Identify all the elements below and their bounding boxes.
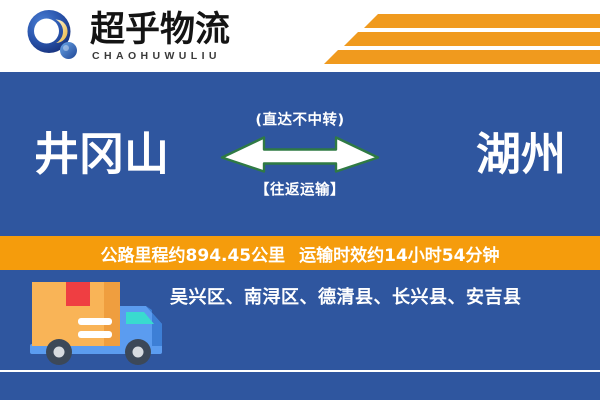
bottom-divider (0, 370, 600, 372)
route-arrow-group: (直达不中转) 【往返运输】 (210, 109, 390, 200)
duration-text: 运输时效约14小时54分钟 (299, 241, 499, 266)
brand-wordmark: 超乎物流 CHAOHUWULIU (90, 10, 230, 62)
orange-speed-stripes-icon (280, 6, 600, 64)
circle-swoosh-logo-icon (24, 7, 82, 65)
info-bar: 公路里程约894.45公里 运输时效约14小时54分钟 (0, 236, 600, 270)
brand-name-en: CHAOHUWULIU (90, 50, 230, 62)
arrow-caption-direct: (直达不中转) (255, 109, 344, 130)
origin-city: 井冈山 (34, 132, 169, 177)
brand-logo[interactable]: 超乎物流 CHAOHUWULIU (24, 7, 230, 65)
destination-city: 湖州 (476, 132, 566, 177)
coverage-areas-text: 吴兴区、南浔区、德清县、长兴县、安吉县 (170, 283, 522, 309)
delivery-truck-icon (26, 276, 172, 372)
distance-text: 公路里程约894.45公里 (101, 241, 286, 266)
header: 超乎物流 CHAOHUWULIU (0, 0, 600, 72)
brand-name-cn: 超乎物流 (90, 12, 230, 49)
route-panel: 井冈山 (直达不中转) 【往返运输】 湖州 (0, 72, 600, 236)
arrow-caption-roundtrip: 【往返运输】 (255, 179, 345, 200)
bidirectional-arrow-icon (220, 132, 380, 174)
logistics-route-banner: 超乎物流 CHAOHUWULIU 井冈山 (直达不中转) 【往返运输】 湖州 (0, 0, 600, 400)
